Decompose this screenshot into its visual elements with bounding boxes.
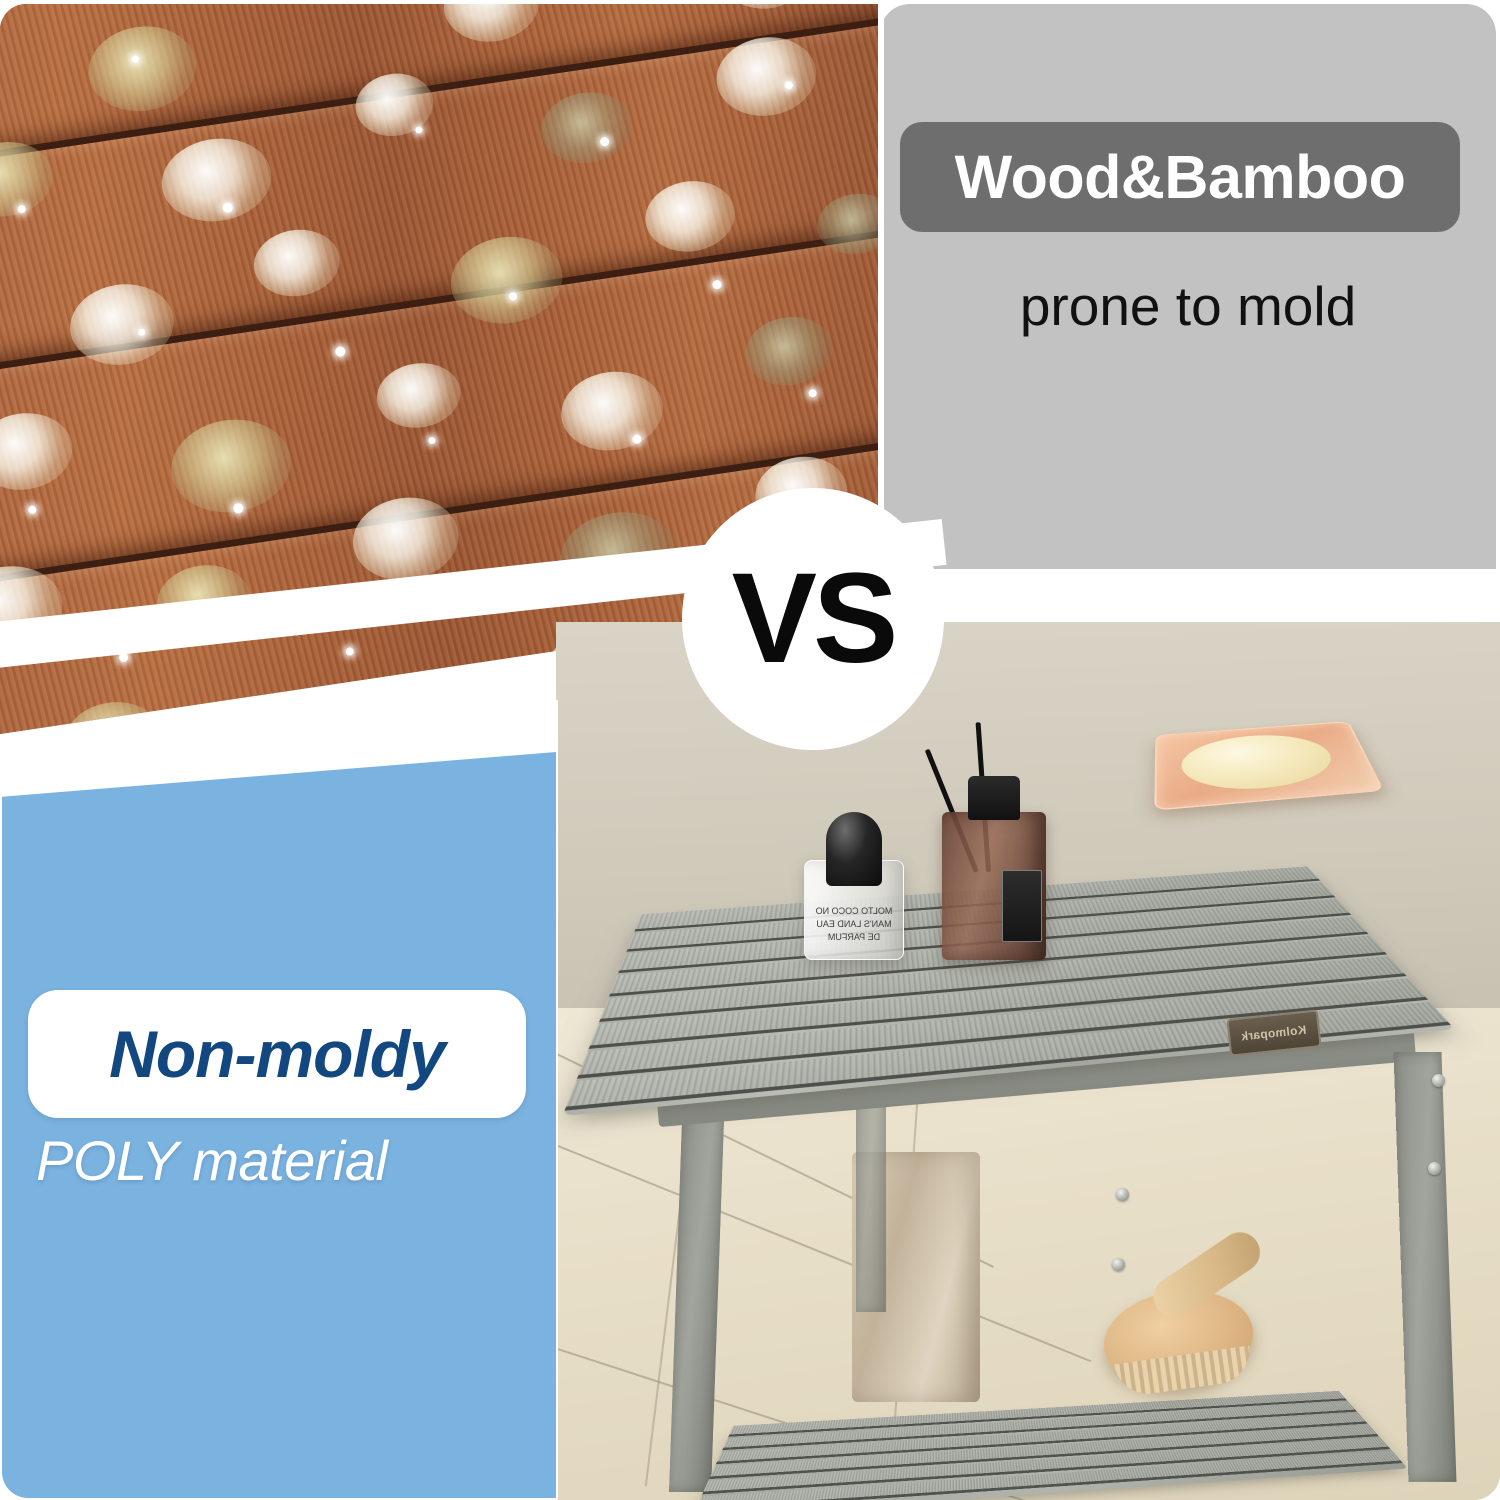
highlight-speck: [508, 291, 517, 300]
non-moldy-panel: [2, 752, 556, 1498]
brand-nameplate-label: Kolmopark: [1241, 1023, 1307, 1044]
wood-bamboo-subtitle: prone to mold: [880, 274, 1496, 338]
perfume-bottle-label: MOLTO COCO NO MAN'S LAND EAU DE PARFUM: [812, 905, 896, 944]
tile-grout-line: [556, 1128, 1091, 1362]
highlight-speck: [599, 136, 609, 146]
non-moldy-badge: Non-moldy: [28, 990, 526, 1118]
diffuser-cap: [968, 776, 1020, 820]
perfume-bottle: MOLTO COCO NO MAN'S LAND EAU DE PARFUM: [804, 812, 904, 960]
diffuser-label: [1002, 870, 1042, 942]
perfume-bottle-cap: [826, 812, 882, 886]
wood-bamboo-badge: Wood&Bamboo: [900, 122, 1460, 232]
vs-badge-label: VS: [732, 555, 895, 683]
poly-material-subtitle: POLY material: [36, 1128, 534, 1193]
highlight-speck: [345, 647, 354, 656]
screw-icon: [1112, 1258, 1125, 1271]
screw-icon: [1116, 1188, 1129, 1201]
wood-bamboo-panel: Wood&Bamboo prone to mold: [880, 4, 1496, 569]
non-moldy-badge-label: Non-moldy: [109, 1016, 445, 1092]
mold-spot: [285, 691, 382, 734]
screw-icon: [1428, 1162, 1441, 1175]
product-comparison-image: Wood&Bamboo prone to mold: [0, 0, 1500, 1500]
wood-bamboo-badge-label: Wood&Bamboo: [955, 142, 1406, 212]
poly-side-table-photo: Kolmopark MOLTO COCO NO MAN'S LAND EAU D…: [556, 622, 1500, 1500]
vs-badge: VS: [682, 488, 944, 750]
screw-icon: [1432, 1074, 1445, 1087]
highlight-speck: [334, 346, 345, 357]
highlight-speck: [427, 436, 435, 444]
reed-diffuser: [938, 730, 1050, 960]
highlight-speck: [808, 388, 817, 397]
